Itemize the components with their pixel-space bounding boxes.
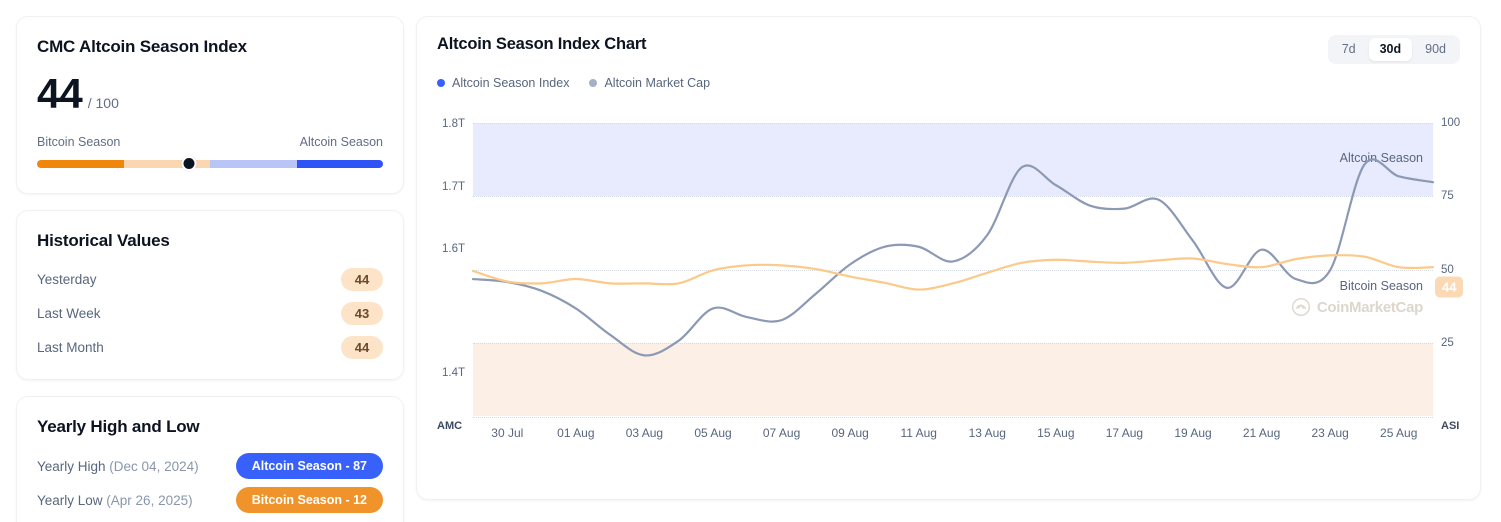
gauge-label-bitcoin-season: Bitcoin Season bbox=[37, 135, 120, 149]
historical-row-label: Last Month bbox=[37, 340, 104, 355]
legend-dot-icon bbox=[589, 79, 597, 87]
yearly-row-label: Yearly High (Dec 04, 2024) bbox=[37, 459, 199, 474]
gauge-knob[interactable] bbox=[182, 156, 197, 171]
y-axis-left-tick: 1.7T bbox=[405, 181, 465, 193]
x-axis-tick: 01 Aug bbox=[557, 426, 594, 440]
legend-item-1[interactable]: Altcoin Market Cap bbox=[589, 76, 710, 90]
y-axis-right-tick: 100 bbox=[1441, 117, 1460, 129]
season-gauge[interactable] bbox=[37, 157, 383, 171]
legend-item-0[interactable]: Altcoin Season Index bbox=[437, 76, 569, 90]
series-line-altcoin-season-index bbox=[473, 159, 1433, 355]
gauge-segment-0 bbox=[37, 160, 124, 168]
chart-title: Altcoin Season Index Chart bbox=[437, 35, 646, 54]
historical-row: Yesterday44 bbox=[37, 267, 383, 291]
range-tab-30d[interactable]: 30d bbox=[1369, 38, 1413, 61]
historical-row-value: 44 bbox=[341, 268, 383, 291]
altcoin-season-index-chart-card: Altcoin Season Index Chart 7d30d90d Altc… bbox=[416, 16, 1481, 500]
yearly-row-badge: Bitcoin Season - 12 bbox=[236, 487, 383, 513]
gauge-label-altcoin-season: Altcoin Season bbox=[300, 135, 383, 149]
gauge-track bbox=[37, 160, 383, 168]
chart-series-svg bbox=[473, 100, 1433, 417]
historical-row-label: Yesterday bbox=[37, 272, 97, 287]
yearly-row-date: (Apr 26, 2025) bbox=[106, 493, 192, 508]
yearly-high-low-list: Yearly High (Dec 04, 2024)Altcoin Season… bbox=[37, 453, 383, 513]
legend-label: Altcoin Market Cap bbox=[604, 76, 710, 90]
right-column: Altcoin Season Index Chart 7d30d90d Altc… bbox=[412, 0, 1501, 522]
yearly-row: Yearly Low (Apr 26, 2025)Bitcoin Season … bbox=[37, 487, 383, 513]
plot-host: Altcoin SeasonBitcoin SeasonCoinMarketCa… bbox=[437, 100, 1461, 465]
historical-row: Last Week43 bbox=[37, 301, 383, 325]
x-axis-tick: 30 Jul bbox=[491, 426, 523, 440]
x-axis-tick: 19 Aug bbox=[1174, 426, 1211, 440]
index-value-row: 44 / 100 bbox=[37, 73, 383, 115]
x-axis-tick: 15 Aug bbox=[1037, 426, 1074, 440]
gauge-segment-3 bbox=[297, 160, 384, 168]
x-axis-labels: 30 Jul01 Aug03 Aug05 Aug07 Aug09 Aug11 A… bbox=[473, 426, 1433, 446]
yearly-row: Yearly High (Dec 04, 2024)Altcoin Season… bbox=[37, 453, 383, 479]
series-line-altcoin-market-cap bbox=[473, 255, 1433, 289]
y-axis-left-tick: 1.8T bbox=[405, 118, 465, 130]
plot-area[interactable]: Altcoin SeasonBitcoin SeasonCoinMarketCa… bbox=[473, 100, 1433, 417]
altcoin-season-page: CMC Altcoin Season Index 44 / 100 Bitcoi… bbox=[0, 0, 1501, 522]
y-axis-left-tick: 1.4T bbox=[405, 367, 465, 379]
legend-label: Altcoin Season Index bbox=[452, 76, 569, 90]
x-axis-tick: 23 Aug bbox=[1311, 426, 1348, 440]
x-axis-tick: 17 Aug bbox=[1106, 426, 1143, 440]
yearly-row-label: Yearly Low (Apr 26, 2025) bbox=[37, 493, 193, 508]
left-column: CMC Altcoin Season Index 44 / 100 Bitcoi… bbox=[0, 0, 404, 522]
x-axis-tick: 21 Aug bbox=[1243, 426, 1280, 440]
x-axis-tick: 11 Aug bbox=[900, 426, 936, 440]
yearly-row-badge: Altcoin Season - 87 bbox=[236, 453, 383, 479]
gridline bbox=[473, 417, 1433, 418]
gauge-segment-1 bbox=[124, 160, 211, 168]
index-value: 44 bbox=[37, 73, 82, 115]
y-axis-right-tick: 75 bbox=[1441, 190, 1454, 202]
historical-values-title: Historical Values bbox=[37, 231, 383, 251]
x-axis-tick: 13 Aug bbox=[969, 426, 1006, 440]
range-tab-7d[interactable]: 7d bbox=[1331, 38, 1367, 61]
current-value-badge: 44 bbox=[1435, 277, 1463, 298]
historical-values-card: Historical Values Yesterday44Last Week43… bbox=[16, 210, 404, 380]
legend-dot-icon bbox=[437, 79, 445, 87]
page-title: CMC Altcoin Season Index bbox=[37, 37, 383, 57]
x-axis-tick: 05 Aug bbox=[694, 426, 731, 440]
range-selector[interactable]: 7d30d90d bbox=[1328, 35, 1460, 64]
x-axis-tick: 03 Aug bbox=[626, 426, 663, 440]
axis-name-left: AMC bbox=[437, 420, 462, 432]
historical-row-label: Last Week bbox=[37, 306, 101, 321]
y-axis-right-tick: 50 bbox=[1441, 264, 1454, 276]
cmc-altcoin-season-index-card: CMC Altcoin Season Index 44 / 100 Bitcoi… bbox=[16, 16, 404, 194]
y-axis-left-tick: 1.6T bbox=[405, 243, 465, 255]
historical-row: Last Month44 bbox=[37, 335, 383, 359]
yearly-high-low-card: Yearly High and Low Yearly High (Dec 04,… bbox=[16, 396, 404, 522]
historical-values-list: Yesterday44Last Week43Last Month44 bbox=[37, 267, 383, 359]
x-axis-tick: 25 Aug bbox=[1380, 426, 1417, 440]
yearly-high-low-title: Yearly High and Low bbox=[37, 417, 383, 437]
range-tab-90d[interactable]: 90d bbox=[1414, 38, 1457, 61]
x-axis-tick: 09 Aug bbox=[831, 426, 868, 440]
chart-legend: Altcoin Season IndexAltcoin Market Cap bbox=[437, 76, 1460, 90]
historical-row-value: 43 bbox=[341, 302, 383, 325]
axis-name-right: ASI bbox=[1441, 420, 1459, 432]
x-axis-tick: 07 Aug bbox=[763, 426, 800, 440]
y-axis-right-tick: 25 bbox=[1441, 337, 1454, 349]
historical-row-value: 44 bbox=[341, 336, 383, 359]
gauge-segment-2 bbox=[210, 160, 297, 168]
chart-header: Altcoin Season Index Chart 7d30d90d bbox=[437, 35, 1460, 64]
yearly-row-date: (Dec 04, 2024) bbox=[109, 459, 198, 474]
gauge-labels: Bitcoin Season Altcoin Season bbox=[37, 135, 383, 149]
index-denominator: / 100 bbox=[88, 95, 119, 111]
